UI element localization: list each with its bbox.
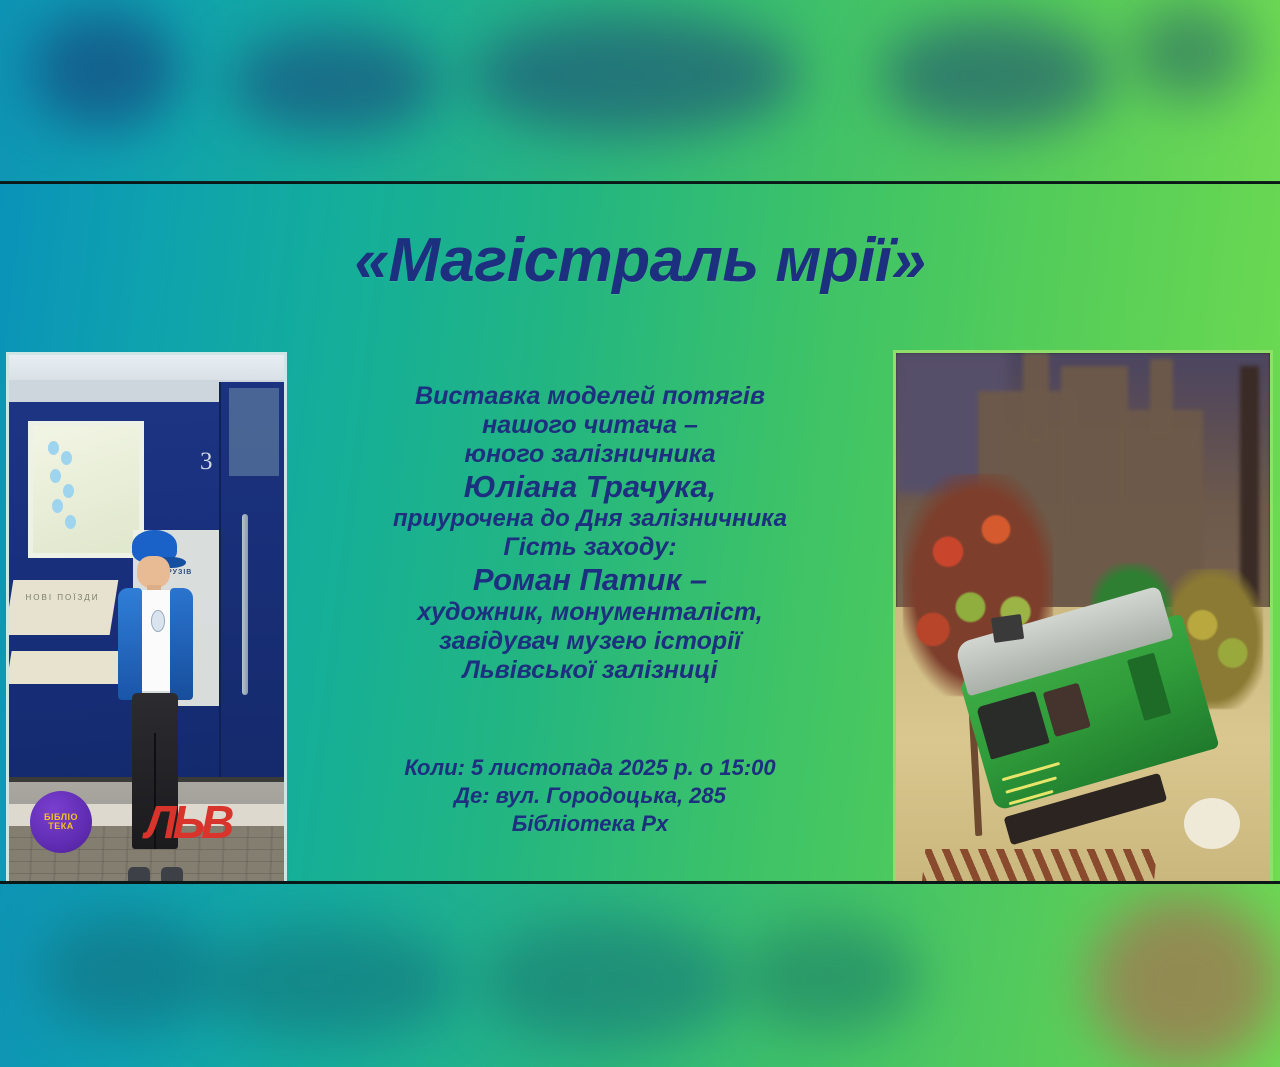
top-band-blur-blob	[470, 15, 800, 135]
event-venue: Бібліотека Рх	[290, 810, 890, 838]
copy-line-presenter-name: Юліана Трачука,	[290, 469, 890, 505]
copy-line: завідувач музею історії	[290, 627, 890, 656]
copy-line: художник, монументаліст,	[290, 598, 890, 627]
copy-line: Виставка моделей потягів	[290, 382, 890, 411]
carriage-panel-text: НОВІ ПОЇЗДИ	[26, 593, 100, 602]
model-rock	[1184, 798, 1240, 849]
poster-body-copy: Виставка моделей потягів нашого читача –…	[290, 382, 890, 685]
copy-line-guest-name: Роман Патик –	[290, 562, 890, 598]
top-band-blur-blob	[30, 10, 180, 130]
shirt-emblem	[151, 610, 165, 632]
balloon-icon	[48, 441, 59, 455]
lviv-logo: ЛЬВ	[145, 793, 225, 851]
balloon-icon	[63, 484, 74, 498]
logo-row: БІБЛІО ТЕКА ЛЬВ	[30, 789, 250, 859]
bottom-band-blur-blob	[480, 919, 740, 1044]
castle-tower	[1150, 359, 1172, 435]
balloon-icon	[61, 451, 72, 465]
bottom-band-blur-blob	[40, 912, 220, 1032]
copy-line: нашого читача –	[290, 411, 890, 440]
top-band-blur-blob	[230, 30, 440, 135]
boy-shoe-right	[161, 867, 182, 881]
photo-right-content	[896, 353, 1270, 881]
copy-line: приурочена до Дня залізничника	[290, 505, 890, 533]
event-where: Де: вул. Городоцька, 285	[290, 782, 890, 810]
carriage-number: 3	[200, 448, 213, 476]
locomotive-horn	[991, 614, 1024, 643]
boy-jacket-left	[118, 588, 141, 700]
biblioteka-logo-line-2: ТЕКА	[48, 822, 74, 831]
carriage-door-window	[229, 388, 279, 476]
page-title: «Магістраль мрії»	[0, 230, 1280, 292]
boy-face	[137, 556, 170, 589]
balloon-icon	[65, 515, 76, 529]
event-details: Коли: 5 листопада 2025 р. о 15:00 Де: ву…	[290, 754, 890, 838]
model-railway-track	[911, 849, 1158, 881]
top-band-blur-blob	[880, 18, 1110, 133]
screenshot-stage: «Магістраль мрії» ДЛЯ ДРУЗІВ	[0, 0, 1280, 1067]
event-poster: «Магістраль мрії» ДЛЯ ДРУЗІВ	[0, 184, 1280, 881]
blurred-bottom-band	[0, 884, 1280, 1067]
biblioteka-logo: БІБЛІО ТЕКА	[30, 791, 92, 853]
castle-tower	[1023, 353, 1049, 442]
boy-shoe-left	[128, 867, 149, 881]
bottom-band-blur-blob	[740, 922, 920, 1032]
copy-line: Львівської залізниці	[290, 656, 890, 685]
carriage-side-panel-2	[6, 651, 124, 684]
bottom-band-blur-blob	[200, 924, 460, 1039]
copy-line-guest-label: Гість заходу:	[290, 533, 890, 562]
carriage-side-panel	[6, 580, 118, 635]
bottom-band-blur-blob	[1090, 894, 1280, 1067]
balloon-icon	[50, 469, 61, 483]
photo-model-railway-diorama	[893, 350, 1273, 881]
copy-line: юного залізничника	[290, 440, 890, 469]
boy-jacket-right	[170, 588, 193, 700]
blurred-top-band	[0, 0, 1280, 182]
handrail	[242, 514, 248, 695]
top-band-blur-blob	[1130, 5, 1250, 100]
event-when: Коли: 5 листопада 2025 р. о 15:00	[290, 754, 890, 782]
